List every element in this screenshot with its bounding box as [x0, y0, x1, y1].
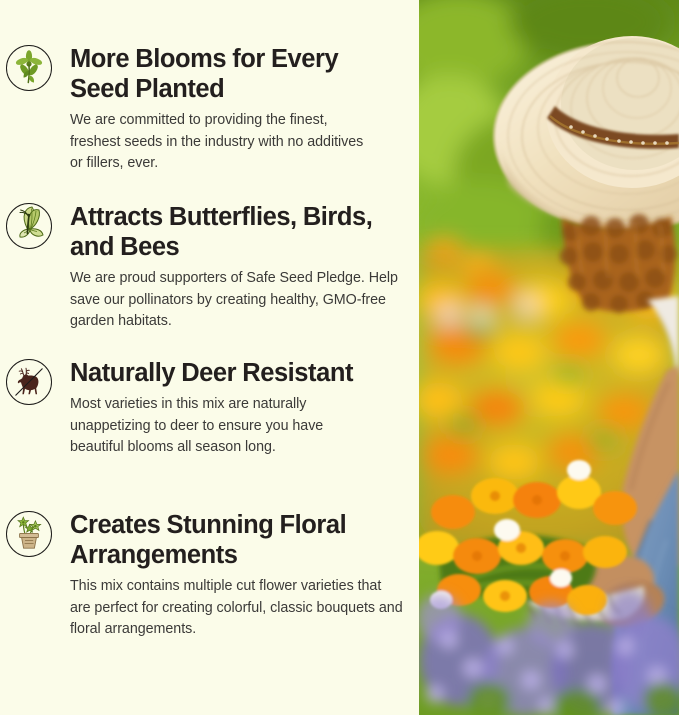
feature-description: We are committed to providing the finest…: [70, 110, 379, 175]
lifestyle-photo: [419, 0, 679, 715]
feature-item-more-blooms: More Blooms for Every Seed Planted We ar…: [0, 44, 419, 175]
no-deer-icon: [5, 358, 53, 406]
feature-title: Creates Stunning Floral Arrangements: [70, 510, 405, 570]
feature-description: This mix contains multiple cut flower va…: [70, 576, 405, 641]
butterfly-icon: [5, 202, 53, 250]
feature-item-floral-arrangements: Creates Stunning Floral Arrangements Thi…: [0, 510, 419, 641]
feature-text-block: Naturally Deer Resistant Most varieties …: [53, 358, 419, 459]
feature-item-deer-resistant: Naturally Deer Resistant Most varieties …: [0, 358, 419, 459]
feature-item-attracts-pollinators: Attracts Butterflies, Birds, and Bees We…: [0, 202, 419, 333]
feature-title: Attracts Butterflies, Birds, and Bees: [70, 202, 403, 262]
feature-text-block: More Blooms for Every Seed Planted We ar…: [53, 44, 419, 175]
feature-text-block: Creates Stunning Floral Arrangements Thi…: [53, 510, 419, 641]
potted-flowers-icon: [5, 510, 53, 558]
flower-sprout-icon: [5, 44, 53, 92]
feature-text-block: Attracts Butterflies, Birds, and Bees We…: [53, 202, 419, 333]
foreground-purple-flowers: [419, 590, 679, 715]
feature-description: Most varieties in this mix are naturally…: [70, 394, 374, 459]
product-feature-panel: More Blooms for Every Seed Planted We ar…: [0, 0, 679, 715]
features-list: More Blooms for Every Seed Planted We ar…: [0, 0, 419, 715]
feature-title: Naturally Deer Resistant: [70, 358, 374, 388]
feature-title: More Blooms for Every Seed Planted: [70, 44, 379, 104]
feature-description: We are proud supporters of Safe Seed Ple…: [70, 268, 403, 333]
